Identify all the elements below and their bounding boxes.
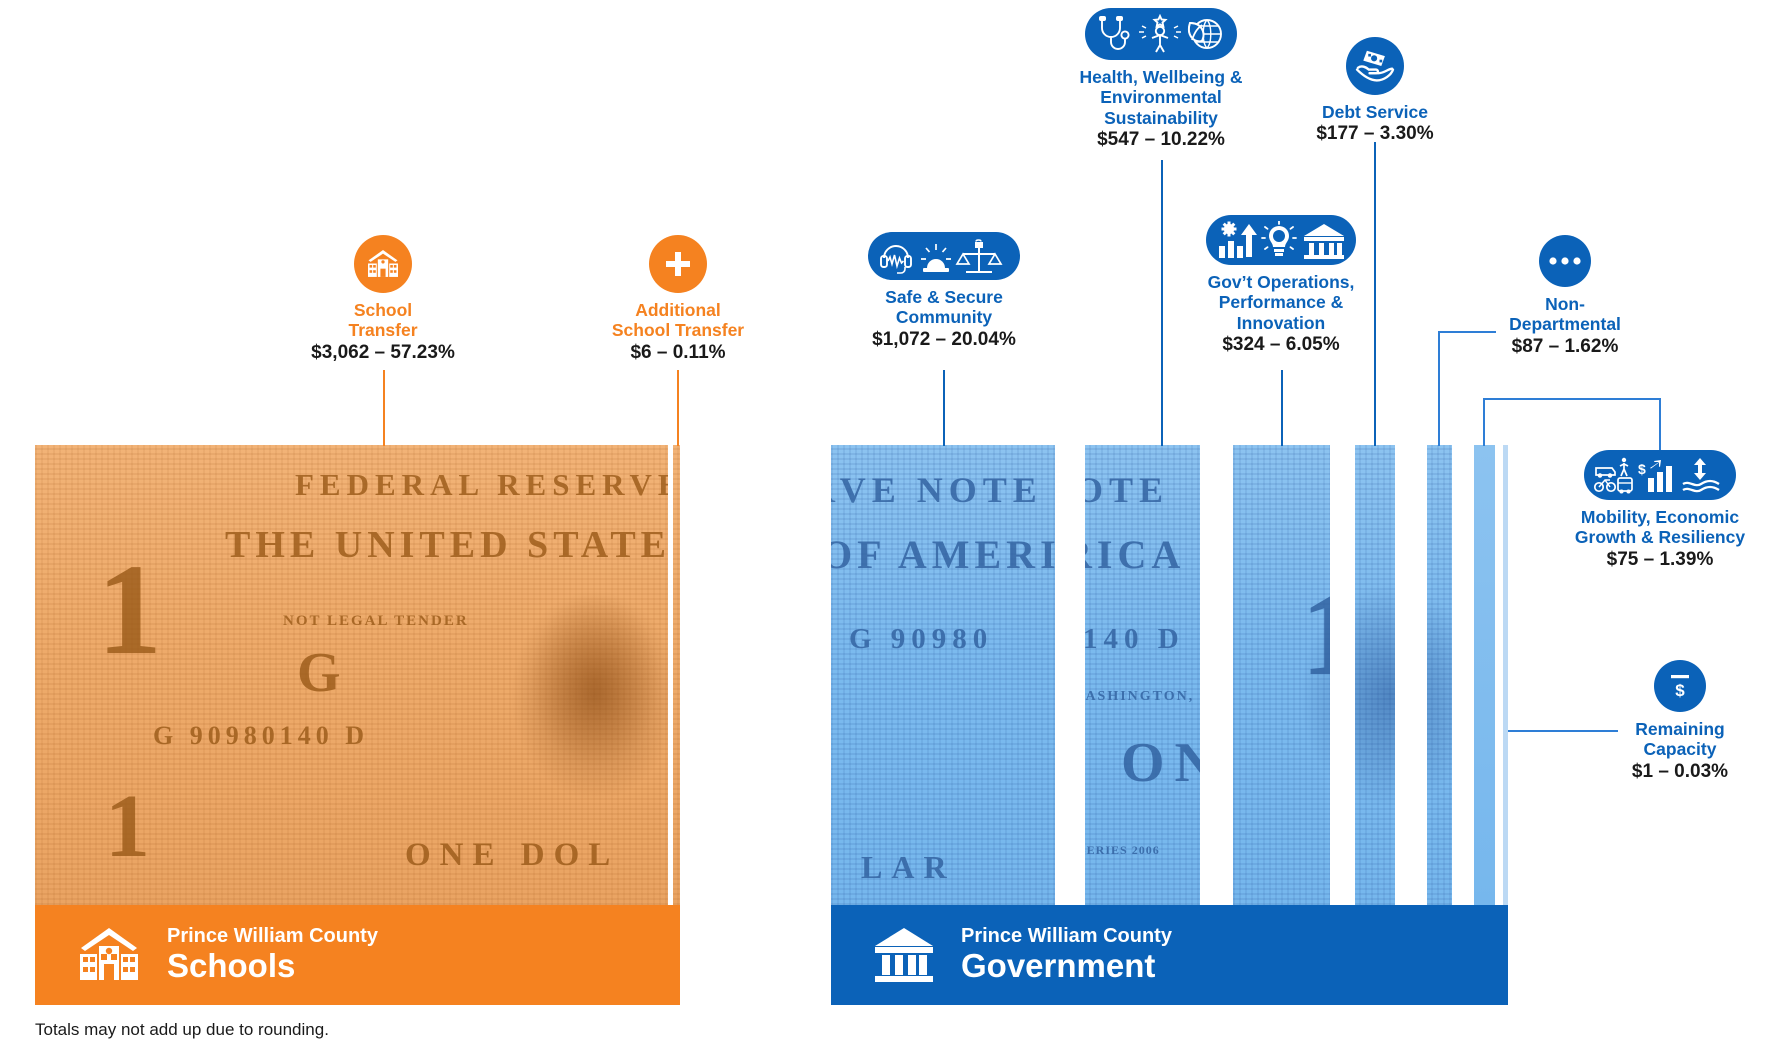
schools-plate-line1: Prince William County: [167, 925, 378, 948]
gear-chart-bulb-bank-icon: [1206, 215, 1356, 265]
bill-face-text-orange: FEDERAL RESERVE THE UNITED STATES NOT LE…: [35, 445, 668, 905]
schools-plate-line2: Schools: [167, 948, 378, 984]
callout-value-safe-secure-community: $1,072 – 20.04%: [829, 329, 1059, 352]
callout-remaining-capacity[interactable]: $ Remaining Capacity $1 – 0.03%: [1585, 660, 1773, 784]
callout-label-debt-service: Debt Service: [1290, 102, 1460, 122]
callout-label-line: Gov’t Operations,: [1172, 272, 1390, 292]
callout-debt-service[interactable]: Debt Service $177 – 3.30%: [1290, 37, 1460, 146]
callout-label-line: Growth & Resiliency: [1545, 527, 1773, 547]
callout-govt-operations-performance-innovation[interactable]: Gov’t Operations, Performance & Innovati…: [1172, 215, 1390, 357]
schools-plate: Prince William County Schools: [35, 905, 680, 1005]
schools-bar-school-transfer: FEDERAL RESERVE THE UNITED STATES NOT LE…: [35, 445, 668, 905]
government-plate-text: Prince William County Government: [961, 925, 1172, 984]
callout-label-line: Innovation: [1172, 313, 1390, 333]
callout-label-line: School Transfer: [563, 320, 793, 340]
callout-value-school-transfer: $3,062 – 57.23%: [268, 342, 498, 365]
bill-face-text-blue-2: OTE RICA 140 D WASHINGTON, D.C. ONE SERI…: [1085, 445, 1200, 905]
callout-value-remaining-capacity: $1 – 0.03%: [1585, 761, 1773, 784]
leader-line-health-wellbeing: [1161, 160, 1163, 446]
svg-text:$: $: [1675, 681, 1685, 700]
callout-label-line: School: [268, 300, 498, 320]
callout-label-health-wellbeing: Health, Wellbeing & Environmental Sustai…: [1032, 67, 1290, 128]
bill-texture-blue-5: [1427, 445, 1452, 905]
callout-label-line: Non-: [1480, 294, 1650, 314]
leader-line-school-transfer: [383, 370, 385, 446]
ellipsis-icon: [1539, 235, 1591, 287]
dollar-bar-icon: $: [1654, 660, 1706, 712]
callout-label-govt-operations: Gov’t Operations, Performance & Innovati…: [1172, 272, 1390, 333]
leader-line-mobility-vertical-left: [1483, 398, 1485, 446]
callout-value-mobility: $75 – 1.39%: [1545, 549, 1773, 572]
bill-texture-blue-2: OTE RICA 140 D WASHINGTON, D.C. ONE SERI…: [1085, 445, 1200, 905]
government-bar-non-departmental: [1427, 445, 1452, 905]
plus-icon: [649, 235, 707, 293]
headset-siren-scales-icon: [868, 232, 1020, 280]
government-bar-govt-operations-performance-innovation: 1: [1233, 445, 1330, 905]
leader-line-additional-school-transfer: [677, 370, 679, 446]
infographic-canvas: FEDERAL RESERVE THE UNITED STATES NOT LE…: [0, 0, 1773, 1048]
government-plate-line1: Prince William County: [961, 925, 1172, 948]
callout-label-school-transfer: School Transfer: [268, 300, 498, 341]
callout-school-transfer[interactable]: School Transfer $3,062 – 57.23%: [268, 235, 498, 365]
svg-text:$: $: [1638, 461, 1646, 477]
callout-label-additional-school-transfer: Additional School Transfer: [563, 300, 793, 341]
government-building-icon: [873, 926, 935, 984]
hand-money-icon: [1346, 37, 1404, 95]
callout-label-line: Performance &: [1172, 292, 1390, 312]
callout-label-line: Safe & Secure: [829, 287, 1059, 307]
bill-texture-blue-4: [1355, 445, 1395, 905]
callout-label-line: Remaining: [1585, 719, 1773, 739]
schools-plate-text: Prince William County Schools: [167, 925, 378, 984]
bill-face-text-blue-1: RVE NOTE OF AMERICA G 90980 LAR: [831, 445, 1055, 905]
leader-line-safe-secure-community: [943, 370, 945, 446]
callout-additional-school-transfer[interactable]: Additional School Transfer $6 – 0.11%: [563, 235, 793, 365]
government-bar-mobility-economic-growth-resiliency: [1474, 445, 1495, 905]
leader-line-non-departmental-vertical: [1438, 331, 1440, 446]
callout-health-wellbeing-environmental-sustainability[interactable]: Health, Wellbeing & Environmental Sustai…: [1032, 8, 1290, 152]
callout-label-line: Health, Wellbeing &: [1032, 67, 1290, 87]
footnote: Totals may not add up due to rounding.: [35, 1020, 329, 1040]
callout-label-line: Community: [829, 307, 1059, 327]
leader-line-mobility-horizontal: [1483, 398, 1661, 400]
callout-label-mobility: Mobility, Economic Growth & Resiliency: [1545, 507, 1773, 548]
bill-texture-blue-3: 1: [1233, 445, 1330, 905]
bill-texture-orange: FEDERAL RESERVE THE UNITED STATES NOT LE…: [35, 445, 668, 905]
callout-label-line: Transfer: [268, 320, 498, 340]
transit-chart-waves-icon: $: [1584, 450, 1736, 500]
bill-texture-blue-6: [1474, 445, 1495, 905]
leader-line-govt-operations: [1281, 370, 1283, 446]
school-building-icon: [354, 235, 412, 293]
callout-label-line: Debt Service: [1290, 102, 1460, 122]
school-building-icon: [77, 926, 141, 984]
callout-mobility-economic-growth-resiliency[interactable]: $ Mobility, Economic Growth & Resiliency: [1545, 450, 1773, 572]
government-bar-health-wellbeing-environmental-sustainability: OTE RICA 140 D WASHINGTON, D.C. ONE SERI…: [1085, 445, 1200, 905]
callout-non-departmental[interactable]: Non- Departmental $87 – 1.62%: [1480, 235, 1650, 359]
callout-label-non-departmental: Non- Departmental: [1480, 294, 1650, 335]
government-plate-line2: Government: [961, 948, 1172, 984]
bill-face-text-blue-3: 1: [1233, 445, 1330, 905]
callout-label-remaining-capacity: Remaining Capacity: [1585, 719, 1773, 760]
callout-safe-secure-community[interactable]: Safe & Secure Community $1,072 – 20.04%: [829, 232, 1059, 352]
government-plate: Prince William County Government: [831, 905, 1508, 1005]
callout-label-line: Mobility, Economic: [1545, 507, 1773, 527]
callout-label-safe-secure-community: Safe & Secure Community: [829, 287, 1059, 328]
government-bar-remaining-capacity: [1503, 445, 1508, 905]
government-bar-safe-secure-community: RVE NOTE OF AMERICA G 90980 LAR: [831, 445, 1055, 905]
callout-label-line: Departmental: [1480, 314, 1650, 334]
leader-line-mobility-vertical-right: [1659, 398, 1661, 450]
callout-label-line: Sustainability: [1032, 108, 1290, 128]
government-bar-debt-service: [1355, 445, 1395, 905]
bill-texture-blue-1: RVE NOTE OF AMERICA G 90980 LAR: [831, 445, 1055, 905]
bill-texture-orange-sliver: [673, 445, 680, 905]
callout-value-govt-operations: $324 – 6.05%: [1172, 334, 1390, 357]
callout-value-health-wellbeing: $547 – 10.22%: [1032, 129, 1290, 152]
callout-value-additional-school-transfer: $6 – 0.11%: [563, 342, 793, 365]
callout-label-line: Additional: [563, 300, 793, 320]
stethoscope-person-globe-icon: [1085, 8, 1237, 60]
callout-label-line: Capacity: [1585, 739, 1773, 759]
callout-label-line: Environmental: [1032, 87, 1290, 107]
schools-bar-additional-school-transfer: [673, 445, 680, 905]
callout-value-non-departmental: $87 – 1.62%: [1480, 336, 1650, 359]
callout-value-debt-service: $177 – 3.30%: [1290, 123, 1460, 146]
